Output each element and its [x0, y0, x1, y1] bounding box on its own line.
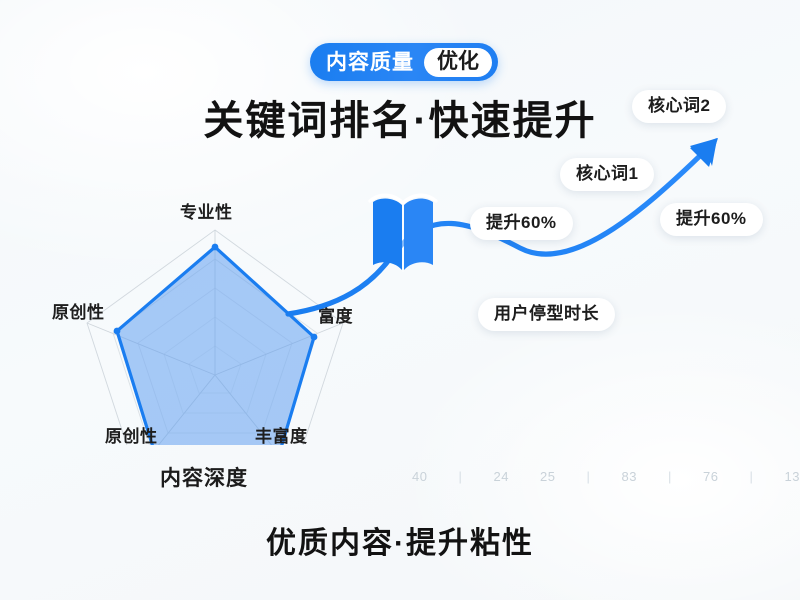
poster-canvas: 内容质量 优化 关键词排名·快速提升 优质内容·提升粘性 内容深度	[0, 0, 800, 600]
axis-tick-5: 83	[622, 469, 637, 484]
pill-dwell-time-label: 用户停型时长	[494, 304, 599, 323]
axis-tick-4: |	[587, 469, 591, 484]
pill-dwell-time[interactable]: 用户停型时长	[478, 298, 615, 331]
axis-tick-3: 25	[540, 469, 555, 484]
pill-uplift-right-label: 提升60%	[676, 209, 747, 228]
axis-tick-6: |	[668, 469, 672, 484]
pill-core-keyword-1[interactable]: 核心词1	[560, 158, 654, 191]
open-book-icon	[368, 188, 438, 280]
pill-uplift-left-label: 提升60%	[486, 213, 557, 232]
pill-uplift-right[interactable]: 提升60%	[660, 203, 763, 236]
faint-axis-ticks: 40 | 24 25 | 83 | 76 | 13	[412, 466, 800, 486]
pill-uplift-left[interactable]: 提升60%	[470, 207, 573, 240]
axis-tick-7: 76	[703, 469, 718, 484]
axis-tick-0: 40	[412, 469, 427, 484]
axis-tick-8: |	[750, 469, 754, 484]
pill-core-keyword-1-label: 核心词1	[576, 164, 638, 183]
pill-core-keyword-2[interactable]: 核心词2	[632, 90, 726, 123]
axis-tick-2: 24	[493, 469, 508, 484]
axis-tick-9: 13	[784, 469, 799, 484]
axis-tick-1: |	[459, 469, 463, 484]
pill-core-keyword-2-label: 核心词2	[648, 96, 710, 115]
